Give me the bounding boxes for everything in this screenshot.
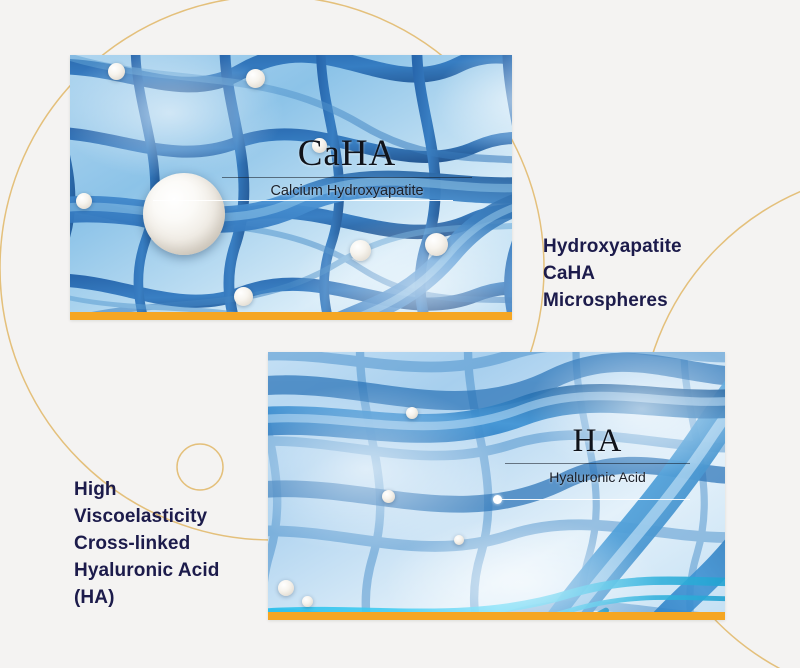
microsphere-small <box>350 240 371 261</box>
ha-overlay-label: HA Hyaluronic Acid <box>505 425 690 485</box>
ha-artwork <box>268 352 725 620</box>
ha-leader-dot <box>493 495 502 504</box>
ha-image-card[interactable] <box>268 352 725 620</box>
particle-small <box>278 580 294 596</box>
caha-overlay-label: CaHA Calcium Hydroxyapatite <box>222 135 472 199</box>
ha-overlay-title: HA <box>505 425 690 458</box>
particle-small <box>454 535 464 545</box>
ha-overlay-subtitle: Hyaluronic Acid <box>505 469 690 485</box>
caha-overlay-subtitle: Calcium Hydroxyapatite <box>222 183 472 199</box>
caha-overlay-title: CaHA <box>222 135 472 172</box>
ha-accent-bar <box>268 612 725 620</box>
ha-overlay-rule <box>505 463 690 464</box>
particle-small <box>302 596 313 607</box>
microsphere-small <box>425 233 448 256</box>
microsphere-small <box>246 69 265 88</box>
caha-accent-bar <box>70 312 512 320</box>
caha-leader-line <box>153 200 453 201</box>
infographic-stage: CaHA Calcium Hydroxyapatite <box>0 0 800 668</box>
microsphere-small <box>108 63 125 80</box>
blue-gel-strands-graphic <box>268 352 725 620</box>
particle-small <box>382 490 395 503</box>
caha-microsphere-highlight <box>143 173 225 255</box>
caption-hyaluronic-acid: High Viscoelasticity Cross-linked Hyalur… <box>74 477 289 612</box>
caption-hydroxyapatite: Hydroxyapatite CaHA Microspheres <box>543 234 773 315</box>
microsphere-small <box>234 287 253 306</box>
microsphere-small <box>76 193 92 209</box>
particle-small <box>406 407 418 419</box>
ha-leader-line <box>500 499 690 500</box>
caha-overlay-rule <box>222 177 472 178</box>
